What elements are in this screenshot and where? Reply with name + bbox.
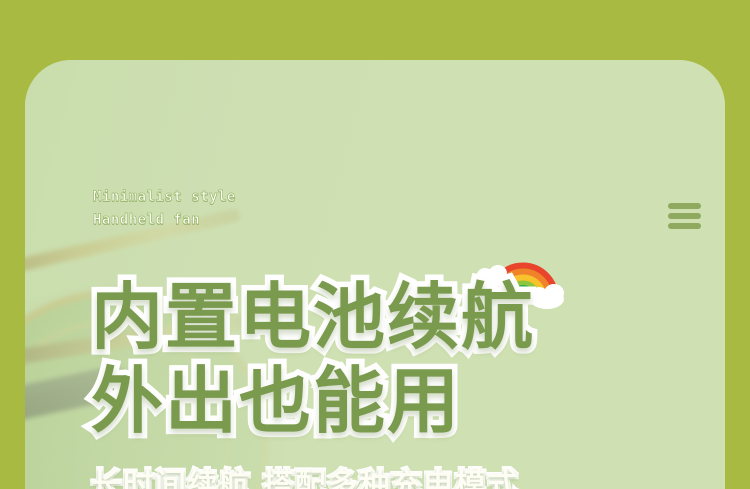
promo-banner: Minimalist style Handheld fan <box>0 0 750 489</box>
headline-line-2: 外出也能用 <box>91 359 711 443</box>
headline: 内置电池续航 外出也能用 <box>91 275 711 443</box>
subtitle: 长时间续航 搭配多种充电模式 使用哦~ <box>91 464 725 489</box>
brand-eyebrow: Minimalist style Handheld fan <box>93 186 236 232</box>
headline-line-1: 内置电池续航 <box>91 275 711 359</box>
hamburger-menu-icon[interactable] <box>668 200 701 233</box>
eyebrow-line-1: Minimalist style <box>93 186 236 209</box>
banner-card: Minimalist style Handheld fan <box>25 60 725 489</box>
menu-bar-top <box>668 203 701 209</box>
menu-bar-bottom <box>668 223 701 229</box>
eyebrow-line-2: Handheld fan <box>93 209 236 232</box>
subtitle-line-1: 长时间续航 搭配多种充电模式 <box>91 464 725 489</box>
menu-bar-middle <box>668 213 701 219</box>
